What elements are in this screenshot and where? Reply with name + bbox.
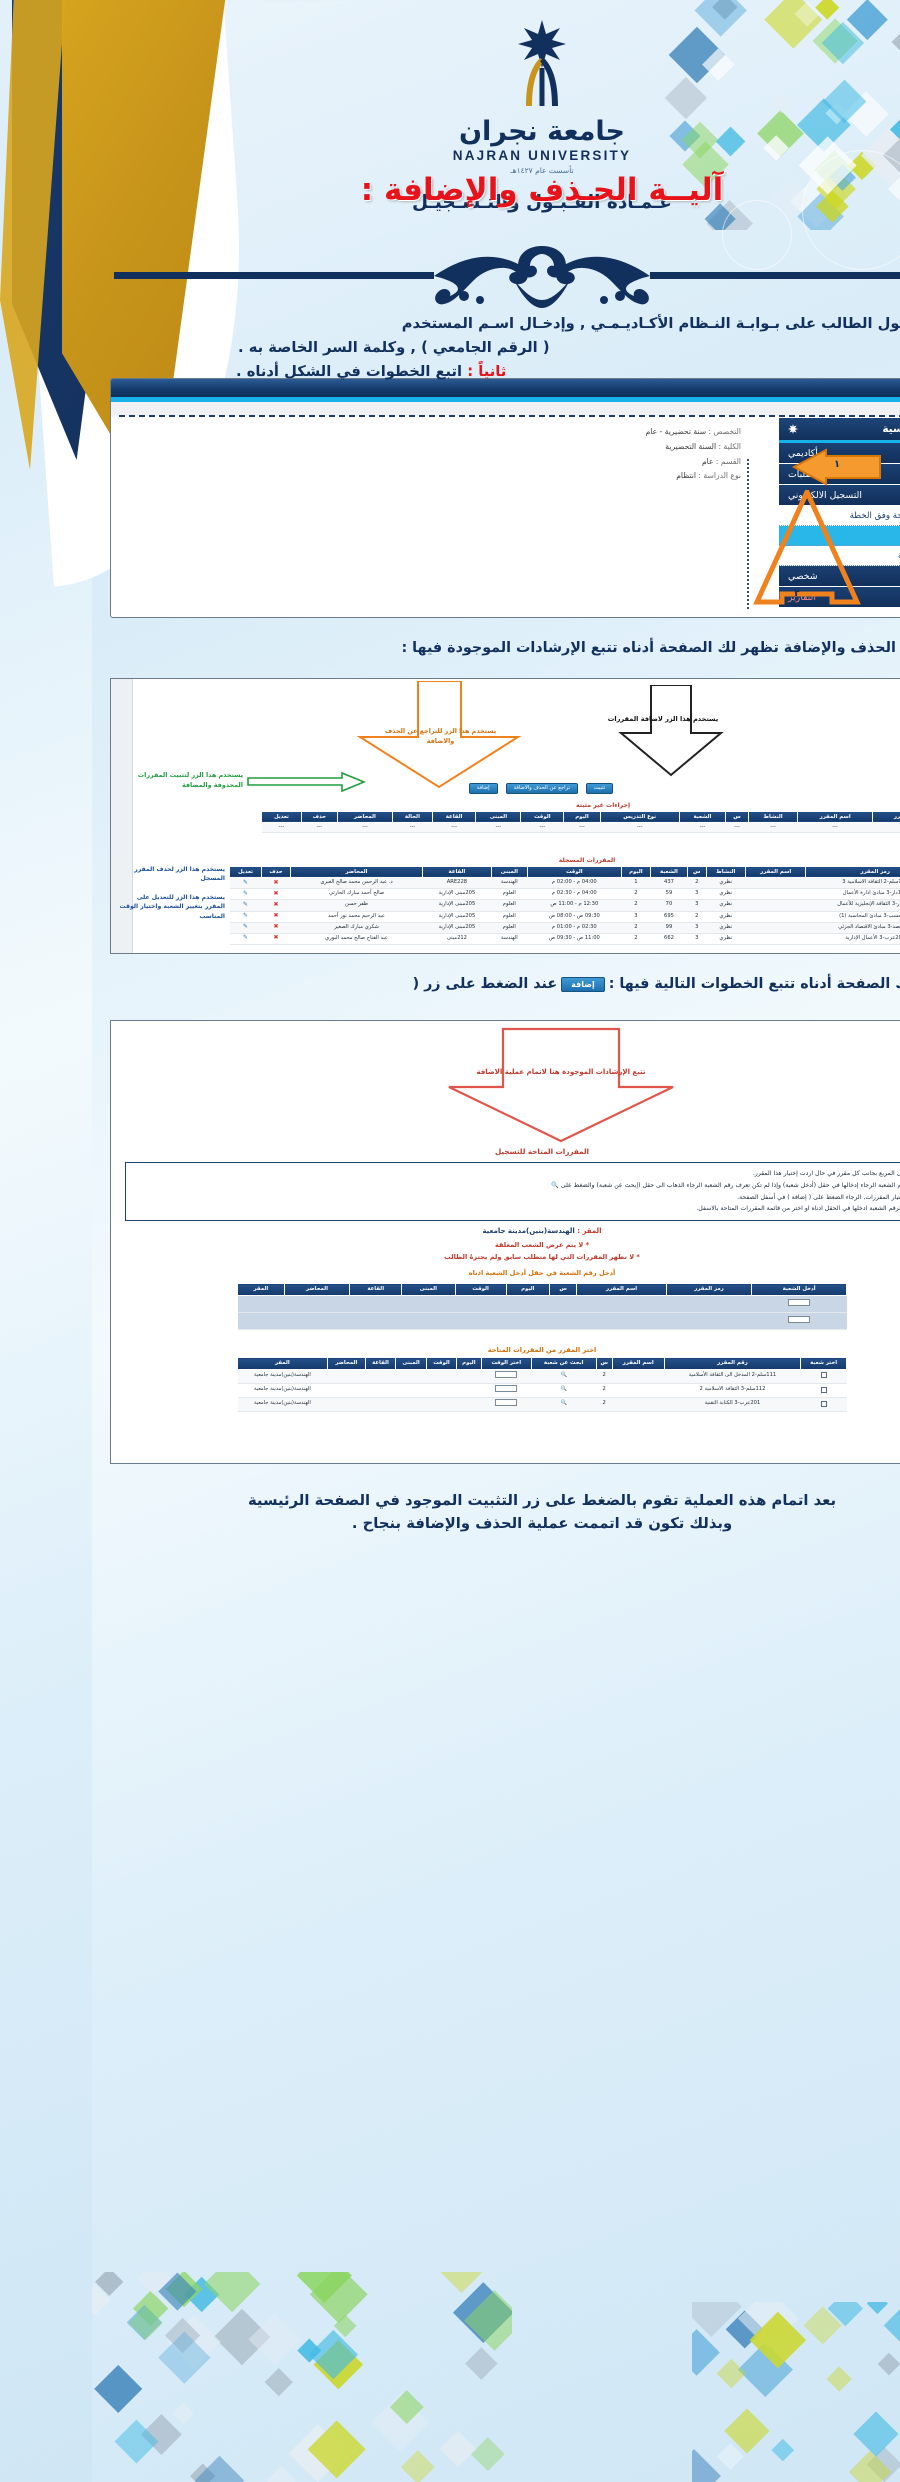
step2-number: ٢: [702, 588, 708, 599]
table-row[interactable]: [146, 1312, 755, 1329]
main-menu-header: القائمة الرئيسية: [687, 418, 882, 443]
mosaic-tile: [792, 2302, 850, 2355]
mosaic-tile: [175, 2465, 204, 2482]
registered-courses-section: المقررات المسجلة رمز المقرراسم المقررالن…: [137, 854, 853, 945]
column-header-6: المبنى: [310, 1284, 363, 1296]
cell-3: 3: [596, 922, 615, 933]
delete-course-icon[interactable]: ✖: [170, 889, 199, 900]
table-row[interactable]: 121حسب-3 مبادئ المحاسبة (1)نظري2695309:3…: [138, 911, 853, 922]
cell-6: ---: [472, 823, 508, 833]
undo-button-callout-text: يستخدم هذا الزر للتراجع عن الحذف والاضاف…: [281, 727, 416, 746]
cell-0: 121حسب-3 مبادئ المحاسبة (1): [714, 911, 853, 922]
location-row: المقر : الهندسة(بنين)مدينة جامعية: [19, 1227, 881, 1235]
cell-2: نظري: [614, 900, 653, 911]
cell-1: [653, 878, 714, 889]
table-row[interactable]: 201عرب-3 الأعمال الإداريةنظري3662211:00 …: [138, 933, 853, 944]
cell-7: الهندسة: [399, 933, 435, 944]
cell-0: 112دار-3 الثقافة الإنجليزية للأعمال: [714, 900, 853, 911]
cell-4: 662: [558, 933, 595, 944]
mosaic-tile: [775, 2302, 796, 2314]
edit-course-icon[interactable]: ✎: [138, 878, 170, 889]
search-section-icon[interactable]: 🔍: [439, 1397, 504, 1411]
enter-section-table[interactable]: أدخل الشعبةرمز المقرراسم المقررساليومالو…: [145, 1283, 755, 1330]
instruction-note-1: * إذا كنت تعرف رقم الشعبة الرجاء إدخالها…: [42, 1180, 858, 1192]
instruction-note-2: * عند الإنتهاء من إختيار المقررات, الرجا…: [42, 1192, 858, 1204]
cell-2: نظري: [614, 911, 653, 922]
table-row[interactable]: 112سلم-3 الثقافة الاسلامية 22🔍الهندسة(بن…: [146, 1383, 755, 1397]
cell-2: ---: [657, 823, 706, 833]
mosaic-tile: [111, 2272, 168, 2313]
pending-actions-section: إجراءات غير مثبتة رمز المقرراسم المقررال…: [169, 799, 853, 833]
column-header-5: نوع التدريس: [508, 811, 587, 823]
delete-course-icon[interactable]: ✖: [170, 911, 199, 922]
section-input-cell[interactable]: [389, 1369, 439, 1383]
available-courses-table-wrap: اختر شعبةرقم المقرراسم المقررسابحث عن شع…: [145, 1357, 755, 1412]
section-number-input[interactable]: [696, 1299, 718, 1306]
portal-vertical-divider: [655, 459, 657, 609]
cell-empty-0: [364, 1397, 389, 1411]
cell-7: العلوم: [399, 900, 435, 911]
cell-0: 113سلم-2 الثقافة الاسلامية 3: [714, 878, 853, 889]
cell-empty-2: [304, 1383, 335, 1397]
delete-course-icon[interactable]: ✖: [170, 922, 199, 933]
column-header-11: المحاضر: [245, 811, 300, 823]
cell-4: 99: [558, 922, 595, 933]
column-header-1: رقم المقرر: [572, 1358, 709, 1370]
delete-course-icon[interactable]: ✖: [170, 878, 199, 889]
enter-section-table-wrap: أدخل الشعبةرمز المقرراسم المقررساليومالو…: [145, 1283, 755, 1330]
table-row[interactable]: 111سلم-2 المدخل الى الثقافة الأسلامية2🔍ا…: [146, 1369, 755, 1383]
column-header-6: اليوم: [472, 811, 508, 823]
credit-hours: 2: [504, 1383, 520, 1397]
cell-9: عبد الفتاح صالح محمد البوري: [198, 933, 330, 944]
mosaic-tile: [347, 2430, 384, 2467]
available-courses-body[interactable]: 111سلم-2 المدخل الى الثقافة الأسلامية2🔍ا…: [146, 1369, 755, 1411]
cell-1: [653, 911, 714, 922]
column-header-1: اسم المقرر: [653, 866, 714, 878]
cell-empty-0: [364, 1369, 389, 1383]
column-header-9: المحاضر: [198, 866, 330, 878]
bottom-right-mosaic-decoration: [600, 2302, 900, 2482]
cell-empty-0: [364, 1383, 389, 1397]
cell-6: 04:00 م - 02:30 م: [435, 889, 529, 900]
mosaic-tile: [600, 2329, 628, 2376]
cell-1: [653, 922, 714, 933]
column-header-4: الشعبة: [558, 866, 595, 878]
cell-7: العلوم: [399, 922, 435, 933]
cell-5: 2: [529, 889, 558, 900]
table-row[interactable]: 113سلم-2 الثقافة الاسلامية 3نظري2437104:…: [138, 878, 853, 889]
column-header-3: س: [457, 1284, 484, 1296]
cell-8: 205مبنى الإدارية: [331, 900, 400, 911]
mosaic-tile: [625, 2358, 654, 2387]
add-button-callout-arrow: [489, 685, 639, 777]
portal-dashed-rule: [27, 415, 873, 417]
orange-note: أدخل رقم الشعبة في حقل أدخل الشعبة اذناه: [19, 1269, 881, 1277]
info-value: انتظام: [584, 471, 604, 480]
cell-2: نظري: [614, 922, 653, 933]
cell-7: الهندسة: [399, 878, 435, 889]
column-header-3: س: [633, 811, 656, 823]
logo-arabic-name: جامعة نجران: [0, 116, 900, 147]
bottom-mosaic-decoration: [0, 2272, 420, 2482]
info-label: الكلية :: [624, 442, 649, 451]
confirm-button-callout-text: يستخدم هذا الزر لتثبيت المقررات المحذوفة…: [29, 771, 151, 790]
cell-0: ---: [781, 823, 853, 833]
mosaic-tile: [173, 2368, 201, 2396]
select-course-checkbox[interactable]: [709, 1369, 755, 1383]
action-buttons-row[interactable]: تثبيت تراجع عن الحذف والاضافة إضافة: [269, 783, 629, 794]
cell-13: ---: [170, 823, 210, 833]
cell-2: نظري: [614, 933, 653, 944]
cell-0: 201عرب-3 الأعمال الإدارية: [714, 933, 853, 944]
najran-university-emblem: [390, 18, 510, 110]
table-row[interactable]: 131قصد-3 مبادئ الاقتصاد الجزئينظري399202…: [138, 922, 853, 933]
pending-table-header-row: رمز المقرراسم المقررالنشاطسالشعبةنوع الت…: [170, 811, 853, 823]
table-row[interactable]: 111دار-3 مبادئ ادارة الأعمالنظري359204:0…: [138, 889, 853, 900]
registered-courses-title: المقررات المسجلة: [137, 857, 853, 864]
caption-after-select: بعد اختيار الحذف والإضافة تظهر لك الصفحة…: [309, 640, 876, 656]
course-name: [520, 1369, 572, 1383]
column-header-3: س: [596, 866, 615, 878]
location-value: الهندسة(بنين)مدينة جامعية: [390, 1227, 482, 1235]
mosaic-tile: [309, 2450, 342, 2482]
edit-course-icon[interactable]: ✎: [138, 922, 170, 933]
menu-item-label: المقررات المطروحة وفق الخطة: [758, 511, 873, 521]
column-header-9: القاعة: [273, 1358, 303, 1370]
step-first-line: أولاً : دخـول الطالب على بـوابـة النـظام…: [28, 312, 872, 336]
cell-6: 04:00 م - 02:00 م: [435, 878, 529, 889]
select-course-checkbox[interactable]: [709, 1383, 755, 1397]
course-code: 201عرب-3 الكتابة التقنية: [572, 1397, 709, 1411]
column-header-8: المبنى: [304, 1358, 335, 1370]
cell-9: شكري مبارك الصغير: [198, 922, 330, 933]
student-info-left-column: التخصص : سنة تحضيرية - عامالكلية : السنة…: [29, 425, 649, 484]
cell-empty-2: [304, 1369, 335, 1383]
available-courses-title: المقررات المتاحة للتسجيل: [19, 1147, 881, 1156]
cell-8: 205مبنى الإدارية: [331, 889, 400, 900]
cell-3: ---: [633, 823, 656, 833]
mosaic-tile: [81, 2403, 102, 2424]
column-header-0: اختر شعبة: [709, 1358, 755, 1370]
cell-3: 2: [596, 878, 615, 889]
cell-9: صالح أحمد مبارك الحارثي: [198, 889, 330, 900]
instructions-note-box: * الرجاء الضغط على المربع بجانب كل مقرر …: [33, 1162, 867, 1221]
cell-4: ---: [587, 823, 633, 833]
mosaic-tile: [680, 2439, 702, 2461]
enter-section-body[interactable]: [146, 1295, 755, 1329]
pending-actions-table: رمز المقرراسم المقررالنشاطسالشعبةنوع الت…: [169, 811, 853, 834]
cell-4: 695: [558, 911, 595, 922]
mosaic-tile: [373, 2347, 405, 2379]
edit-callout-text: يستخدم هذا الزر للتعديل على المقرر بتغيي…: [27, 893, 133, 921]
mosaic-tile: [823, 2410, 857, 2444]
info-value: عام: [610, 457, 622, 466]
info-row-2: القسم : عام: [29, 455, 649, 470]
cell-6: 09:30 ص - 08:00 ص: [435, 911, 529, 922]
search-section-icon[interactable]: 🔍: [439, 1383, 504, 1397]
enter-section-header-row: أدخل الشعبةرمز المقرراسم المقررساليومالو…: [146, 1284, 755, 1296]
column-header-4: اليوم: [414, 1284, 457, 1296]
section-input-cell[interactable]: [389, 1397, 439, 1411]
instruction-steps: أولاً : دخـول الطالب على بـوابـة النـظام…: [28, 312, 872, 383]
course-code: 111سلم-2 المدخل الى الثقافة الأسلامية: [572, 1369, 709, 1383]
portal-gray-band: [19, 402, 881, 416]
cell-empty-3: [273, 1369, 303, 1383]
table-row[interactable]: 112دار-3 الثقافة الإنجليزية للأعمالنظري3…: [138, 900, 853, 911]
step-second-line: ثانياً : اتبع الخطوات في الشكل أدناه .: [28, 360, 872, 384]
course-location: الهندسة(بنين)مدينة جامعية: [146, 1397, 236, 1411]
cell-empty-4: [235, 1397, 273, 1411]
final-caption-line2: وبذلك تكون قد اتممت عملية الحذف والإضافة…: [26, 1513, 874, 1536]
cell-4: 59: [558, 889, 595, 900]
red-notes: * لا يتم عرض الشعب المغلقة* لا تظهر المق…: [19, 1240, 881, 1264]
instruction-note-0: * الرجاء الضغط على المربع بجانب كل مقرر …: [42, 1168, 858, 1180]
cell-empty-1: [335, 1383, 365, 1397]
edit-course-icon[interactable]: ✎: [138, 900, 170, 911]
final-caption: بعد اتمام هذه العملية تقوم بالضغط على زر…: [26, 1490, 874, 1536]
step-first-line2: ( الرقم الجامعي ) , وكلمة السر الخاصة به…: [28, 336, 872, 360]
column-header-7: الوقت: [429, 811, 472, 823]
course-location: الهندسة(بنين)مدينة جامعية: [146, 1383, 236, 1397]
table-row[interactable]: [146, 1295, 755, 1312]
caption2-add-badge: إضافة: [469, 977, 513, 992]
cell-3: 3: [596, 889, 615, 900]
menu-emblem-icon: [695, 423, 707, 435]
cell-1: [653, 933, 714, 944]
column-header-9: القاعة: [340, 811, 384, 823]
delete-callout-text: يستخدم هذا الزر لحذف المقرر المسجل: [29, 865, 133, 884]
column-header-0: أدخل الشعبة: [660, 1284, 755, 1296]
cell-9: ظفر حسن: [198, 900, 330, 911]
info-row-3: نوع الدراسة : انتظام: [29, 469, 649, 484]
cell-9: ---: [340, 823, 384, 833]
cell-empty-3: [273, 1397, 303, 1411]
column-header-10: حذف: [170, 866, 199, 878]
menu-item-label: الحذف والإضافة: [816, 531, 873, 541]
delete-course-icon[interactable]: ✖: [170, 900, 199, 911]
column-header-5: الوقت: [363, 1284, 414, 1296]
section-input-cell[interactable]: [389, 1383, 439, 1397]
available-courses-header-row: اختر شعبةرقم المقرراسم المقررسابحث عن شع…: [146, 1358, 755, 1370]
column-header-2: اسم المقرر: [520, 1358, 572, 1370]
course-name: [520, 1383, 572, 1397]
column-header-6: اليوم: [364, 1358, 389, 1370]
column-header-10: الحالة: [300, 811, 340, 823]
cell-1: [653, 900, 714, 911]
column-header-9: المقر: [146, 1284, 193, 1296]
cell-5: 2: [529, 922, 558, 933]
mosaic-tile: [379, 2437, 412, 2470]
cell-3: 3: [596, 933, 615, 944]
chevron-icon: ◄: [868, 593, 873, 601]
step-second-ordinal: ثانياً :: [375, 363, 414, 380]
delete-course-icon[interactable]: ✖: [170, 933, 199, 944]
menu-header-label: القائمة الرئيسية: [790, 423, 874, 435]
cell-1: ---: [706, 823, 781, 833]
cell-10: ---: [300, 823, 340, 833]
menu-item-label: المقررات المسجلة: [806, 551, 873, 561]
section-number-input[interactable]: [696, 1316, 718, 1323]
cell-8: 205مبنى الإدارية: [331, 911, 400, 922]
cell-9: عبد الرحيم محمد نور أحمد: [198, 911, 330, 922]
caption2-prefix: عند الضغط على زر (: [321, 976, 466, 992]
column-header-4: ابحث عن شعبة: [439, 1358, 504, 1370]
chevron-icon: ◄: [868, 572, 873, 580]
column-header-0: رمز المقرر: [781, 811, 853, 823]
ornament-divider: [22, 246, 878, 312]
cell-5: 2: [529, 933, 558, 944]
column-header-5: اليوم: [529, 866, 558, 878]
column-header-8: القاعة: [331, 866, 400, 878]
choose-course-title: اختر المقرر من المقررات المتاحة: [19, 1346, 881, 1354]
cell-9: د. عبد الرحمن محمد صالح الغبرى: [198, 878, 330, 889]
cell-5: ---: [508, 823, 587, 833]
column-header-11: تعديل: [138, 866, 170, 878]
cell-6: 12:30 م - 11:00 ص: [435, 900, 529, 911]
cell-1: [653, 889, 714, 900]
course-code: 112سلم-3 الثقافة الاسلامية 2: [572, 1383, 709, 1397]
column-header-1: اسم المقرر: [706, 811, 781, 823]
cell-empty-3: [273, 1383, 303, 1397]
edit-course-icon[interactable]: ✎: [138, 911, 170, 922]
info-label: القسم :: [622, 457, 649, 466]
column-header-4: الشعبة: [587, 811, 633, 823]
cell-8: ARE228: [331, 878, 400, 889]
cell-2: نظري: [614, 878, 653, 889]
cell-7: ---: [429, 823, 472, 833]
cell-0: 131قصد-3 مبادئ الاقتصاد الجزئي: [714, 922, 853, 933]
screenshot-available-courses-page: تتبع الإرشادات الموجودة هنا لاتمام عملية…: [18, 1020, 882, 1464]
section-input-cell[interactable]: [660, 1295, 755, 1312]
column-header-8: المبنى: [384, 811, 429, 823]
cell-8: 205مبنى الإدارية: [331, 922, 400, 933]
info-label: التخصص :: [614, 427, 649, 436]
cell-5: 1: [529, 878, 558, 889]
red-note-0: * لا يتم عرض الشعب المغلقة: [19, 1240, 881, 1252]
credit-hours: 2: [504, 1397, 520, 1411]
cell-7: العلوم: [399, 911, 435, 922]
red-note-1: * لا تظهر المقررات التي لها متطلب سابق و…: [19, 1252, 881, 1264]
select-course-checkbox[interactable]: [709, 1397, 755, 1411]
cell-6: 11:00 ص - 09:30 ص: [435, 933, 529, 944]
column-header-3: س: [504, 1358, 520, 1370]
column-header-13: تعديل: [170, 811, 210, 823]
step1-orange-arrow: [690, 448, 790, 486]
cell-empty-4: [235, 1369, 273, 1383]
confirm-button[interactable]: تثبيت: [494, 783, 521, 794]
cell-7: العلوم: [399, 889, 435, 900]
caption2-suffix: ) تظهر لك الصفحة أدناه تتبع الخطوات التا…: [517, 976, 876, 992]
chevron-icon: ◄: [868, 470, 873, 478]
search-section-icon[interactable]: 🔍: [439, 1369, 504, 1383]
mosaic-tile: [2, 2365, 51, 2414]
instruction-note-3: * في حال معرفتك لرقم الشعبة ادخلها في ال…: [42, 1203, 858, 1215]
cell-empty-2: [304, 1397, 335, 1411]
instructions-callout-arrow: [319, 1027, 619, 1145]
chevron-icon: ◄: [868, 449, 873, 457]
instructions-callout-text: تتبع الإرشادات الموجودة هنا لاتمام عملية…: [359, 1067, 579, 1078]
add-button[interactable]: إضافة: [377, 783, 406, 794]
cell-4: 70: [558, 900, 595, 911]
ornament-divider-icon: [22, 246, 878, 312]
mosaic-tile: [786, 2353, 808, 2375]
column-header-7: المبنى: [399, 866, 435, 878]
cell-3: 2: [596, 911, 615, 922]
available-courses-table[interactable]: اختر شعبةرقم المقرراسم المقررسابحث عن شع…: [145, 1357, 755, 1412]
column-header-12: حذف: [209, 811, 245, 823]
step-second-text: اتبع الخطوات في الشكل أدناه .: [144, 363, 370, 380]
section-input-cell[interactable]: [660, 1312, 755, 1329]
column-header-1: رمز المقرر: [574, 1284, 659, 1296]
info-row-0: التخصص : سنة تحضيرية - عام: [29, 425, 649, 440]
cell-11: ---: [245, 823, 300, 833]
column-header-5: اختر الوقت: [389, 1358, 439, 1370]
cell-8: ---: [384, 823, 429, 833]
step1-number: ١: [742, 459, 748, 470]
portal-scroll-gutter: [881, 418, 882, 618]
info-value: السنة التحضيرية: [573, 442, 624, 451]
column-header-2: النشاط: [657, 811, 706, 823]
screenshot-add-drop-page: يستخدم هذا الزر لاضافة المقررات يستخدم ه…: [18, 678, 882, 954]
logo-english-name: NAJRAN UNIVERSITY: [0, 148, 900, 163]
location-label: المقر :: [485, 1227, 509, 1235]
confirm-button-callout-arrow: [154, 771, 274, 793]
caption-after-add-click: عند الضغط على زر ( إضافة ) تظهر لك الصفح…: [321, 976, 876, 992]
column-header-7: الوقت: [335, 1358, 365, 1370]
cell-empty-1: [335, 1369, 365, 1383]
final-caption-line1: بعد اتمام هذه العملية تقوم بالضغط على زر…: [26, 1490, 874, 1513]
undo-button[interactable]: تراجع عن الحذف والاضافة: [414, 783, 486, 794]
table-row[interactable]: 201عرب-3 الكتابة التقنية2🔍الهندسة(بنين)م…: [146, 1397, 755, 1411]
cell-12: ---: [209, 823, 245, 833]
edit-course-icon[interactable]: ✎: [138, 933, 170, 944]
info-value: سنة تحضيرية - عام: [554, 427, 615, 436]
course-location: الهندسة(بنين)مدينة جامعية: [146, 1369, 236, 1383]
add-button-callout-text: يستخدم هذا الزر لاضافة المقررات: [511, 715, 631, 725]
column-header-7: القاعة: [258, 1284, 310, 1296]
edit-course-icon[interactable]: ✎: [138, 889, 170, 900]
column-header-6: الوقت: [435, 866, 529, 878]
table-row: ----------------------------------------…: [170, 823, 853, 833]
cell-empty-1: [335, 1397, 365, 1411]
step-first-text: : دخـول الطالب على بـوابـة النـظام الأكـ…: [310, 315, 842, 332]
column-header-2: النشاط: [614, 866, 653, 878]
mosaic-tile: [761, 2412, 806, 2457]
column-header-2: اسم المقرر: [485, 1284, 575, 1296]
mosaic-tile: [157, 2313, 210, 2366]
info-label: نوع الدراسة :: [604, 471, 649, 480]
info-row-1: الكلية : السنة التحضيرية: [29, 440, 649, 455]
cell-4: 437: [558, 878, 595, 889]
mosaic-tile: [868, 2409, 900, 2453]
cell-8: 212مبنى: [331, 933, 400, 944]
column-header-11: المقر: [146, 1358, 236, 1370]
credit-hours: 2: [504, 1369, 520, 1383]
mosaic-tile: [734, 2366, 760, 2392]
registered-table-header-row: رمز المقرراسم المقررالنشاطسالشعبةاليومال…: [138, 866, 853, 878]
cell-3: 3: [596, 900, 615, 911]
course-name: [520, 1397, 572, 1411]
cell-5: 3: [529, 911, 558, 922]
registered-courses-table: رمز المقرراسم المقررالنشاطسالشعبةاليومال…: [137, 866, 853, 946]
cell-5: 2: [529, 900, 558, 911]
cell-2: نظري: [614, 889, 653, 900]
cell-0: 111دار-3 مبادئ ادارة الأعمال: [714, 889, 853, 900]
registered-table-body[interactable]: 113سلم-2 الثقافة الاسلامية 3نظري2437104:…: [138, 878, 853, 945]
pending-table-body: ----------------------------------------…: [170, 823, 853, 833]
page-title: آليــة الحـذف والإضافة :: [0, 172, 900, 208]
